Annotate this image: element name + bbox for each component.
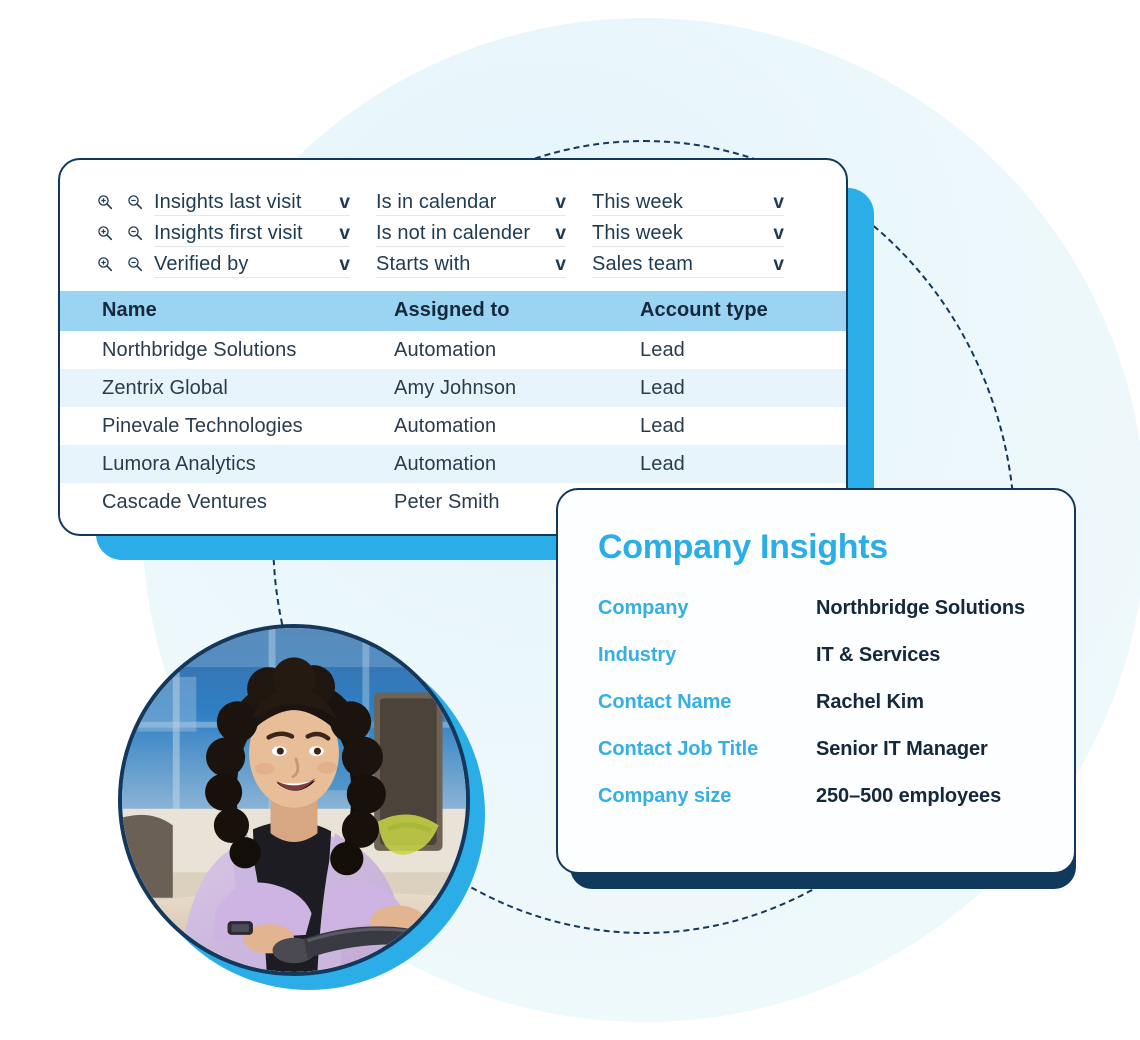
insight-value: Northbridge Solutions (816, 597, 1025, 620)
filter-row: Insights first visit v Is not in calende… (60, 217, 846, 248)
filter-value-select[interactable]: This week v (592, 187, 784, 216)
filter-panel: Insights last visit v Is in calendar v T… (60, 160, 846, 283)
chevron-down-icon: v (549, 191, 566, 215)
cell-name: Cascade Ventures (60, 483, 352, 521)
filter-operator-select[interactable]: Is not in calender v (376, 218, 566, 247)
zoom-out-icon[interactable] (124, 222, 146, 244)
company-insights-card: Company Insights Company Northbridge Sol… (556, 488, 1076, 874)
filter-field-select[interactable]: Verified by v (154, 249, 350, 278)
filter-operator-select[interactable]: Starts with v (376, 249, 566, 278)
column-header-account-type[interactable]: Account type (598, 291, 846, 331)
column-header-name[interactable]: Name (60, 291, 352, 331)
cell-assigned-to: Automation (352, 407, 598, 445)
table-header-row: Name Assigned to Account type (60, 291, 846, 331)
filter-value-label: This week (592, 189, 683, 215)
chevron-down-icon: v (333, 191, 350, 215)
filter-operator-label: Is in calendar (376, 189, 496, 215)
chevron-down-icon: v (767, 222, 784, 246)
insight-row-company: Company Northbridge Solutions (598, 597, 1034, 620)
filter-field-label: Insights first visit (154, 220, 303, 246)
cell-name: Northbridge Solutions (60, 331, 352, 369)
filter-value-select[interactable]: Sales team v (592, 249, 784, 278)
filters-and-table-card: Insights last visit v Is in calendar v T… (58, 158, 848, 536)
cell-assigned-to: Automation (352, 331, 598, 369)
chevron-down-icon: v (549, 253, 566, 277)
insight-row-industry: Industry IT & Services (598, 644, 1034, 667)
filter-operator-select[interactable]: Is in calendar v (376, 187, 566, 216)
chevron-down-icon: v (767, 253, 784, 277)
zoom-in-icon[interactable] (94, 191, 116, 213)
insight-value: IT & Services (816, 644, 940, 667)
cell-assigned-to: Automation (352, 445, 598, 483)
zoom-in-icon[interactable] (94, 253, 116, 275)
insight-label: Industry (598, 644, 816, 667)
insight-row-company-size: Company size 250–500 employees (598, 785, 1034, 808)
filter-operator-label: Starts with (376, 251, 470, 277)
cell-assigned-to: Amy Johnson (352, 369, 598, 407)
avatar (118, 624, 470, 976)
office-photo-illustration (122, 628, 466, 972)
zoom-out-icon[interactable] (124, 253, 146, 275)
table-row[interactable]: Lumora Analytics Automation Lead (60, 445, 846, 483)
table-row[interactable]: Zentrix Global Amy Johnson Lead (60, 369, 846, 407)
table-row[interactable]: Pinevale Technologies Automation Lead (60, 407, 846, 445)
chevron-down-icon: v (767, 191, 784, 215)
insight-value: Senior IT Manager (816, 738, 988, 761)
chevron-down-icon: v (333, 222, 350, 246)
cell-name: Zentrix Global (60, 369, 352, 407)
zoom-out-icon[interactable] (124, 191, 146, 213)
chevron-down-icon: v (549, 222, 566, 246)
cell-account-type: Lead (598, 445, 846, 483)
filter-field-select[interactable]: Insights first visit v (154, 218, 350, 247)
cell-account-type: Lead (598, 331, 846, 369)
filter-operator-label: Is not in calender (376, 220, 530, 246)
insight-label: Contact Name (598, 691, 816, 714)
filter-field-label: Verified by (154, 251, 249, 277)
insights-title: Company Insights (598, 528, 1034, 567)
cell-account-type: Lead (598, 407, 846, 445)
accounts-table: Name Assigned to Account type Northbridg… (60, 291, 846, 521)
column-header-assigned-to[interactable]: Assigned to (352, 291, 598, 331)
illustration-stage: Insights last visit v Is in calendar v T… (0, 0, 1140, 1040)
table-row[interactable]: Northbridge Solutions Automation Lead (60, 331, 846, 369)
filter-value-select[interactable]: This week v (592, 218, 784, 247)
filter-field-select[interactable]: Insights last visit v (154, 187, 350, 216)
cell-name: Lumora Analytics (60, 445, 352, 483)
insight-value: Rachel Kim (816, 691, 924, 714)
insight-value: 250–500 employees (816, 785, 1001, 808)
table-header: Name Assigned to Account type (60, 291, 846, 331)
filter-row: Insights last visit v Is in calendar v T… (60, 186, 846, 217)
avatar-image (122, 628, 466, 972)
insight-label: Company size (598, 785, 816, 808)
filter-row: Verified by v Starts with v Sales team v (60, 248, 846, 279)
insight-label: Contact Job Title (598, 738, 816, 761)
filter-value-label: This week (592, 220, 683, 246)
filter-field-label: Insights last visit (154, 189, 302, 215)
cell-account-type: Lead (598, 369, 846, 407)
zoom-in-icon[interactable] (94, 222, 116, 244)
chevron-down-icon: v (333, 253, 350, 277)
insight-label: Company (598, 597, 816, 620)
filter-value-label: Sales team (592, 251, 693, 277)
insight-row-contact-name: Contact Name Rachel Kim (598, 691, 1034, 714)
cell-name: Pinevale Technologies (60, 407, 352, 445)
insight-row-contact-job-title: Contact Job Title Senior IT Manager (598, 738, 1034, 761)
